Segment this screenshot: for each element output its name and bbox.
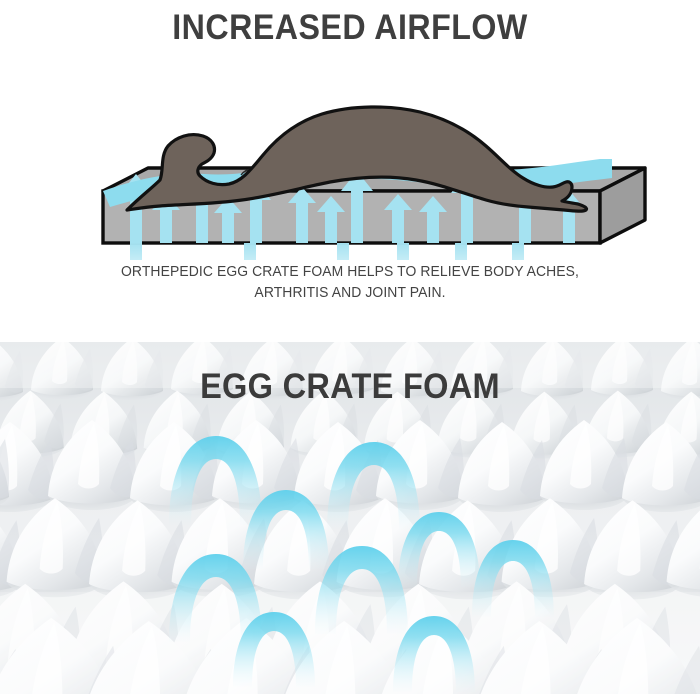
airflow-mattress-diagram	[0, 60, 700, 260]
caption-line-1: ORTHEPEDIC EGG CRATE FOAM HELPS TO RELIE…	[121, 264, 579, 280]
infographic-page: INCREASED AIRFLOW	[0, 0, 700, 700]
caption-line-2: ARTHRITIS AND JOINT PAIN.	[254, 285, 445, 301]
bottom-panel-egg-crate-foam: EGG CRATE FOAM	[0, 342, 700, 694]
page-title-increased-airflow: INCREASED AIRFLOW	[28, 8, 672, 48]
airflow-arrow-tails	[130, 243, 524, 260]
bottom-white-strip	[0, 694, 700, 700]
arch-shape-group	[169, 436, 554, 692]
top-panel-increased-airflow: INCREASED AIRFLOW	[0, 0, 700, 342]
caption-text: ORTHEPEDIC EGG CRATE FOAM HELPS TO RELIE…	[72, 262, 629, 304]
section-title-egg-crate-foam: EGG CRATE FOAM	[25, 367, 676, 407]
